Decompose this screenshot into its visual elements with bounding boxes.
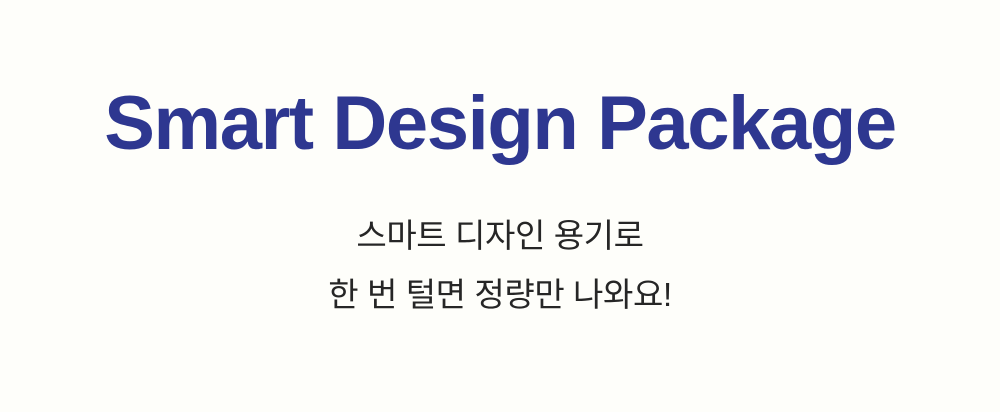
subtitle-block: 스마트 디자인 용기로 한 번 털면 정량만 나와요!: [328, 206, 671, 324]
page-title: Smart Design Package: [104, 86, 896, 162]
subtitle-line-1: 스마트 디자인 용기로: [356, 206, 643, 265]
promo-banner: Smart Design Package 스마트 디자인 용기로 한 번 털면 …: [0, 0, 1000, 412]
subtitle-line-2: 한 번 털면 정량만 나와요!: [328, 265, 671, 324]
